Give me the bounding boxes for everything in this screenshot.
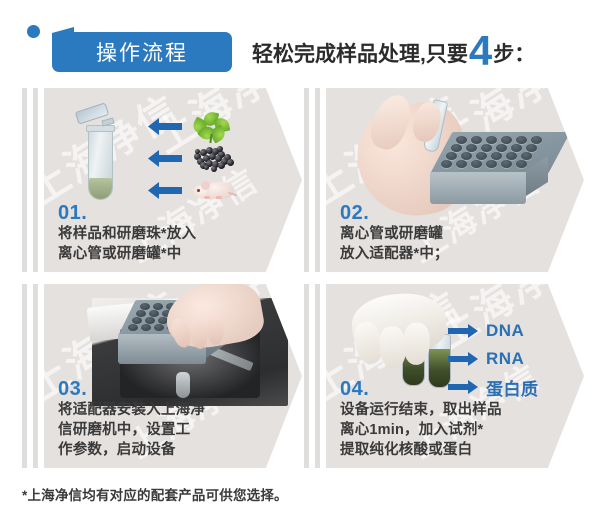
step-card-04: 上海净信 上海净信 上海净信 DNA RNA (304, 284, 584, 468)
arrow-left-icon (148, 150, 182, 167)
sample-input-row (148, 146, 268, 170)
step-card-panel: 上海净信 上海净信 上海净信 DNA RNA (326, 284, 584, 468)
grinding-beads-icon (192, 144, 234, 172)
arrow-left-icon (148, 182, 182, 199)
step-description-line: 提取纯化核酸或蛋白 (340, 440, 502, 460)
headline-text-after: 步： (493, 38, 535, 68)
step-description-line: 作参数，启动设备 (58, 440, 205, 460)
step-card-03: 上海净信 上海净信 上海净信 03. 将适配器安装入上海净 信研磨机中，设置工 … (22, 284, 302, 468)
card-accent-bar-inner (315, 284, 320, 468)
section-badge: 操作流程 (52, 32, 232, 72)
step-card-panel: 上海净信 上海净信 上海净信 03. 将适配器安装入上海净 信研磨机中，设置工 … (44, 284, 302, 468)
arrow-right-icon (448, 352, 478, 366)
headline-step-count: 4 (469, 34, 492, 68)
step-description-line: 将适配器安装入上海净 (58, 400, 205, 420)
gloved-hand-icon (350, 291, 448, 355)
sample-input-row (148, 114, 268, 138)
step-card-02: 上海净信 上海净信 上海净信 02. 离心管或研磨罐 放入适配器*中； (304, 88, 584, 272)
step-card-text: 02. 离心管或研磨罐 放入适配器*中； (340, 203, 449, 264)
step-description: 离心管或研磨罐 放入适配器*中； (340, 224, 449, 264)
card-accent-bar-inner (33, 284, 38, 468)
step-card-01: 上海净信 上海净信 上海净信 (22, 88, 302, 272)
step-description-line: 信研磨机中，设置工 (58, 420, 205, 440)
steps-grid: 上海净信 上海净信 上海净信 (0, 88, 600, 473)
card-accent-bar-outer (22, 88, 27, 272)
badge-dot-icon (27, 25, 40, 38)
sample-input-row (148, 178, 268, 202)
step-description: 设备运行结束，取出样品 离心1min，加入试剂* 提取纯化核酸或蛋白 (340, 400, 502, 460)
step-card-panel: 上海净信 上海净信 上海净信 (44, 88, 302, 272)
output-row: DNA (448, 320, 524, 342)
page-header: 操作流程 轻松完成样品处理,只要 4 步： (0, 0, 600, 88)
arrow-left-icon (148, 118, 182, 135)
output-row: RNA (448, 348, 524, 370)
step-number: 03. (58, 379, 205, 400)
page-title: 轻松完成样品处理,只要 4 步： (252, 30, 535, 76)
card-accent-bar-outer (22, 284, 27, 468)
output-label: RNA (486, 349, 524, 369)
mouse-icon (192, 176, 234, 204)
step-description-line: 离心管或研磨罐*中 (58, 244, 196, 264)
step-description-line: 离心管或研磨罐 (340, 224, 449, 244)
hand-holding-adapter-photo (358, 94, 558, 218)
card-accent-bar-inner (315, 88, 320, 272)
step-number: 02. (340, 203, 449, 224)
headline-text-before: 轻松完成样品处理,只要 (252, 38, 468, 68)
step-description-line: 将样品和研磨珠*放入 (58, 224, 196, 244)
card-accent-bar-outer (304, 88, 309, 272)
adapter-block-icon (430, 132, 548, 204)
step-description-line: 设备运行结束，取出样品 (340, 400, 502, 420)
step-card-panel: 上海净信 上海净信 上海净信 02. 离心管或研磨罐 放入适配器*中； (326, 88, 584, 272)
step-card-text: 04. 设备运行结束，取出样品 离心1min，加入试剂* 提取纯化核酸或蛋白 (340, 379, 502, 460)
leaf-icon (192, 112, 234, 140)
sample-input-list (148, 114, 268, 204)
step-card-text: 01. 将样品和研磨珠*放入 离心管或研磨罐*中 (58, 203, 196, 264)
step-description: 将样品和研磨珠*放入 离心管或研磨罐*中 (58, 224, 196, 264)
footer-note: *上海净信均有对应的配套产品可供您选择。 (22, 484, 288, 504)
arrow-right-icon (448, 324, 478, 338)
step-number: 01. (58, 203, 196, 224)
card-accent-bar-inner (33, 88, 38, 272)
step-description-line: 放入适配器*中； (340, 244, 449, 264)
step-description-line: 离心1min，加入试剂* (340, 420, 502, 440)
centrifuge-tube-icon (78, 104, 124, 212)
section-badge-label: 操作流程 (96, 37, 188, 67)
output-label: DNA (486, 321, 524, 341)
card-accent-bar-outer (304, 284, 309, 468)
step-card-text: 03. 将适配器安装入上海净 信研磨机中，设置工 作参数，启动设备 (58, 379, 205, 460)
step-description: 将适配器安装入上海净 信研磨机中，设置工 作参数，启动设备 (58, 400, 205, 460)
step-number: 04. (340, 379, 502, 400)
